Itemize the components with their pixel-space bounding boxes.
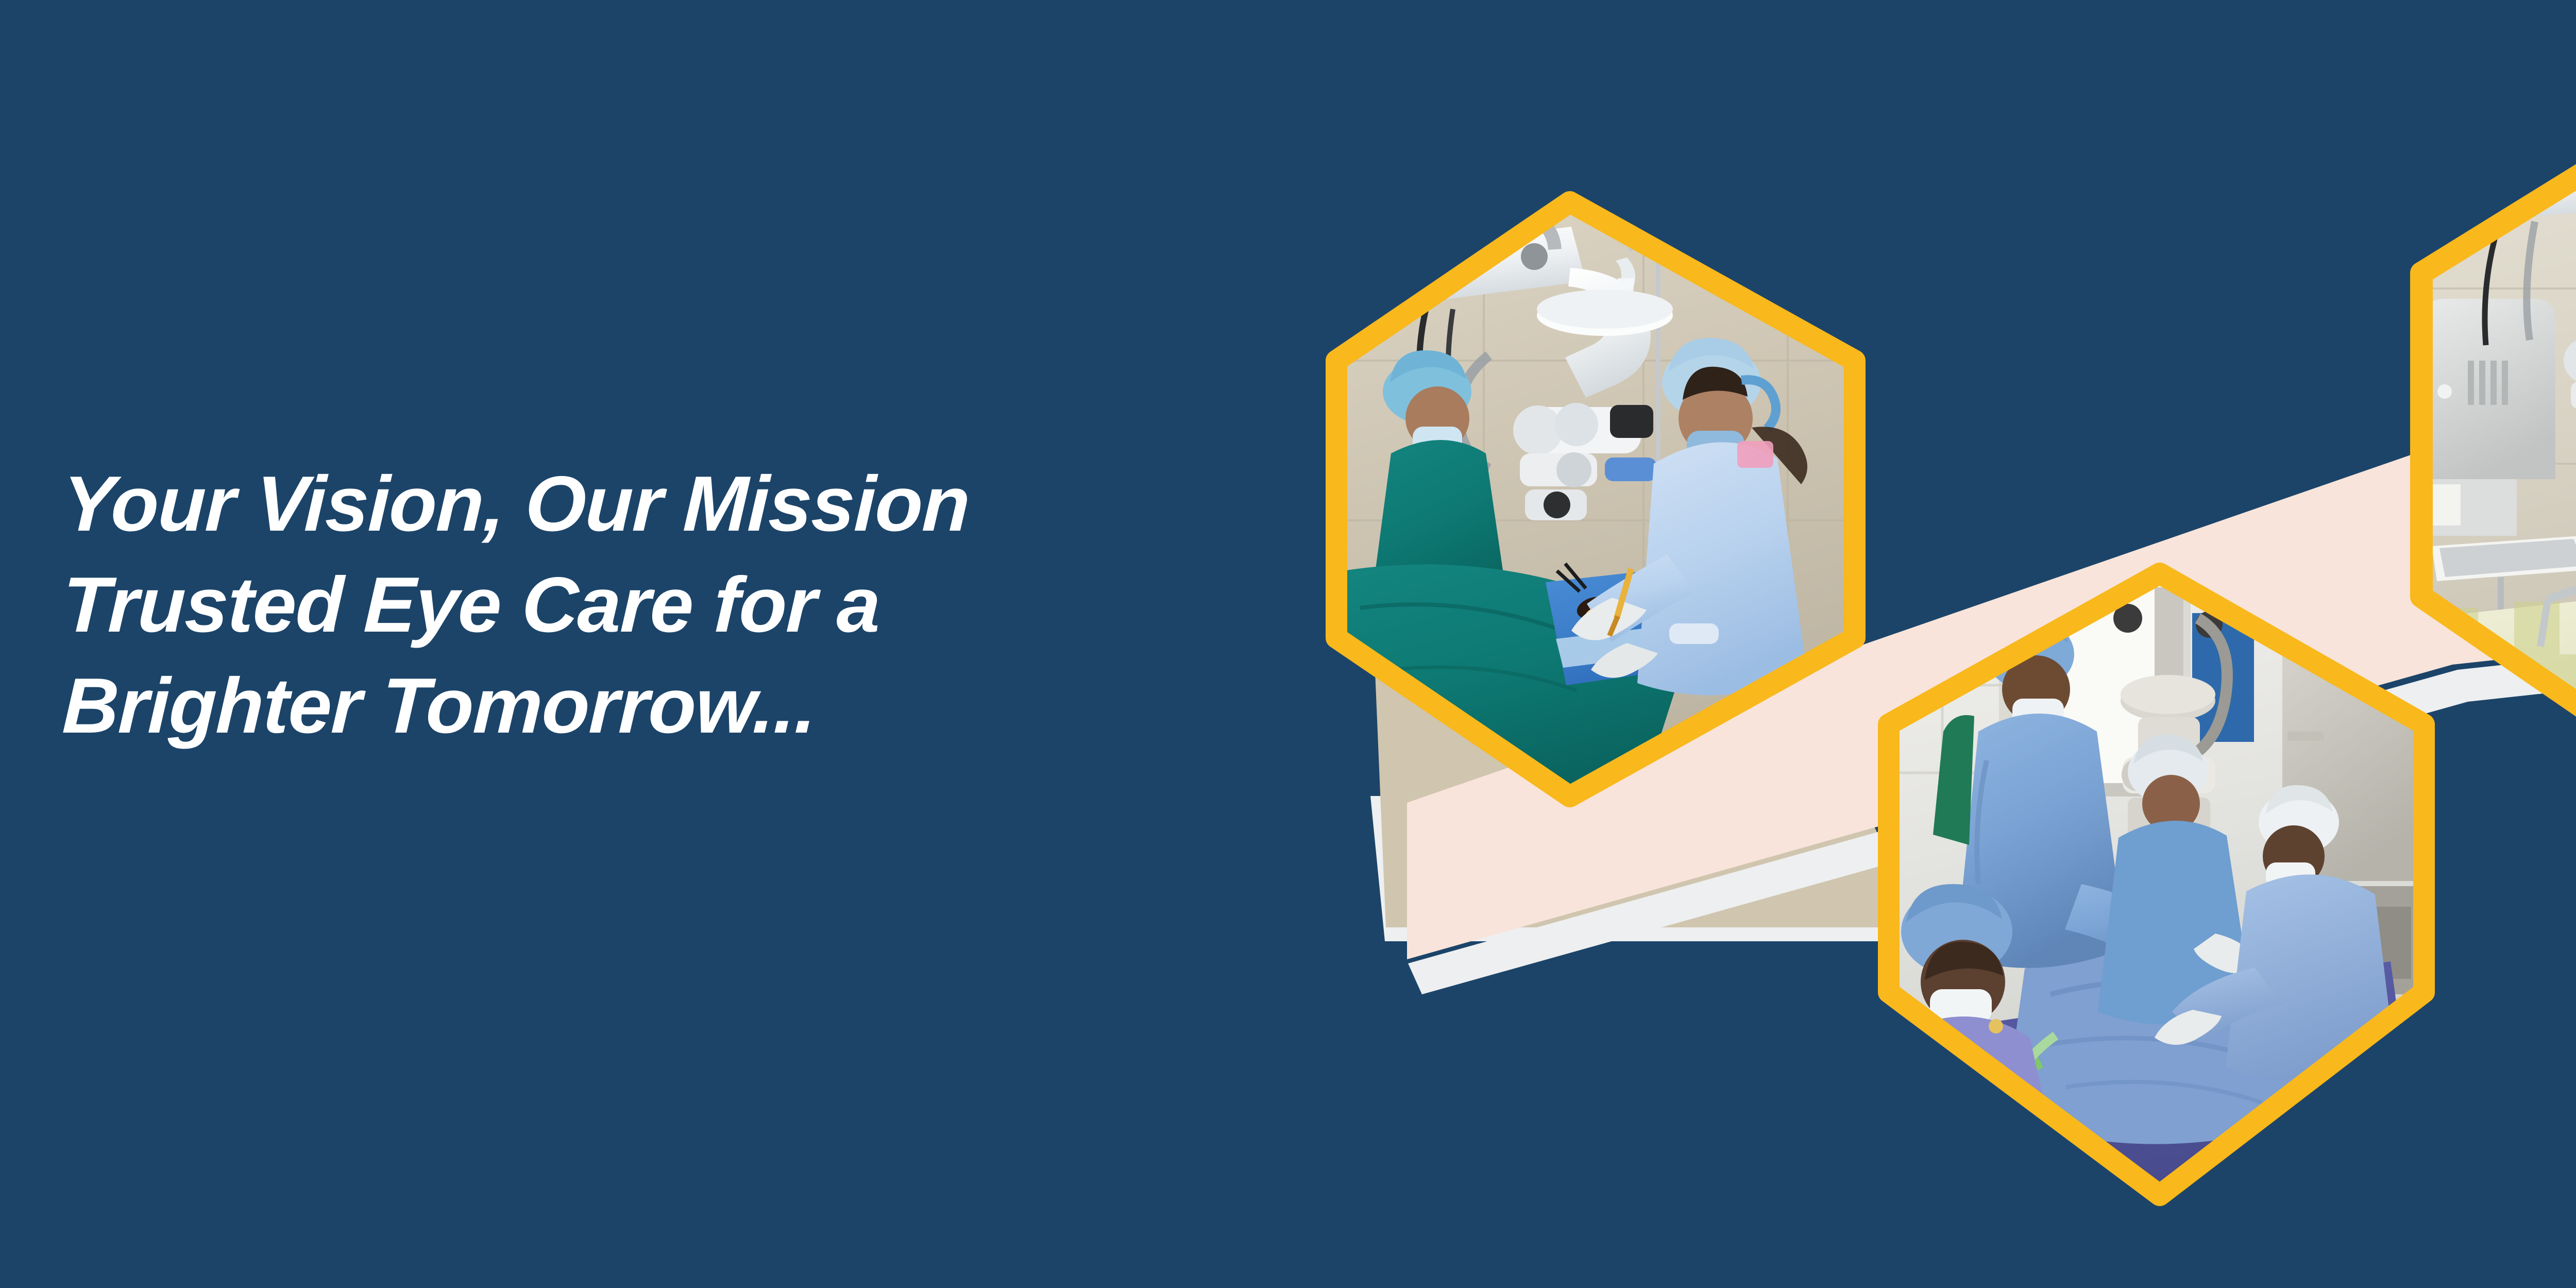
headline-line-1: Your Vision, Our Mission: [61, 453, 1327, 554]
headline-block: Your Vision, Our Mission Trusted Eye Car…: [61, 453, 1323, 756]
headline-line-3: Brighter Tomorrow...: [61, 655, 1327, 756]
hero-banner: Your Vision, Our Mission Trusted Eye Car…: [0, 0, 2576, 1288]
headline-line-2: Trusted Eye Care for a: [61, 554, 1327, 655]
